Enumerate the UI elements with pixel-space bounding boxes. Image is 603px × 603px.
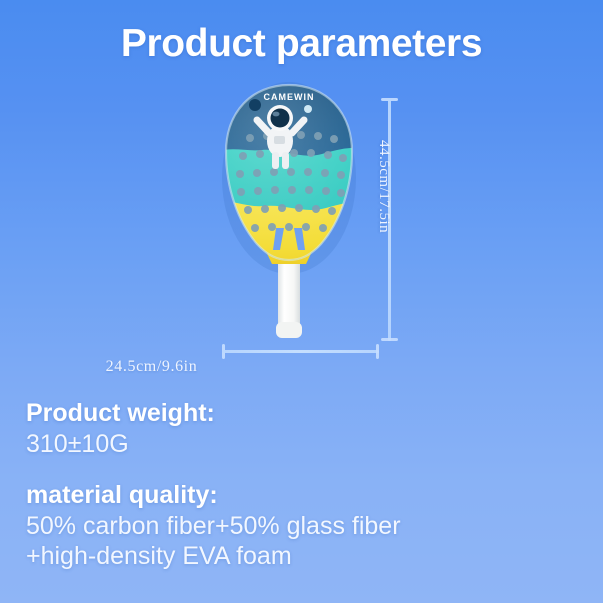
height-dimension-cap-bottom [381, 338, 398, 341]
spec-heading-material: material quality: [26, 481, 576, 511]
width-dimension-cap-right [376, 344, 379, 359]
racket-holes [236, 131, 347, 232]
racket-handle [276, 254, 302, 338]
width-dimension-line [222, 350, 379, 353]
astronaut-graphic [249, 99, 312, 169]
racket-throat [250, 218, 328, 264]
height-dimension-label: 44.5cm/17.5in [375, 140, 392, 233]
product-parameters-page: Product parameters [0, 0, 603, 603]
specifications-list: Product weight: 310±10G material quality… [26, 399, 576, 572]
padel-racket-illustration: CAMEWIN [210, 78, 385, 340]
spec-group-material: material quality: 50% carbon fiber+50% g… [26, 481, 576, 572]
spec-heading-weight: Product weight: [26, 399, 576, 429]
width-dimension-label: 24.5cm/9.6in [0, 358, 603, 376]
spec-value-material-line-2: +high-density EVA foam [26, 541, 576, 572]
page-title: Product parameters [0, 22, 603, 66]
brand-label: CAMEWIN [264, 92, 315, 102]
spec-value-material-line-1: 50% carbon fiber+50% glass fiber [26, 511, 576, 542]
spec-value-weight: 310±10G [26, 429, 576, 460]
throat-cutouts [273, 228, 305, 250]
racket-head: CAMEWIN [210, 78, 385, 278]
spec-group-weight: Product weight: 310±10G [26, 399, 576, 459]
